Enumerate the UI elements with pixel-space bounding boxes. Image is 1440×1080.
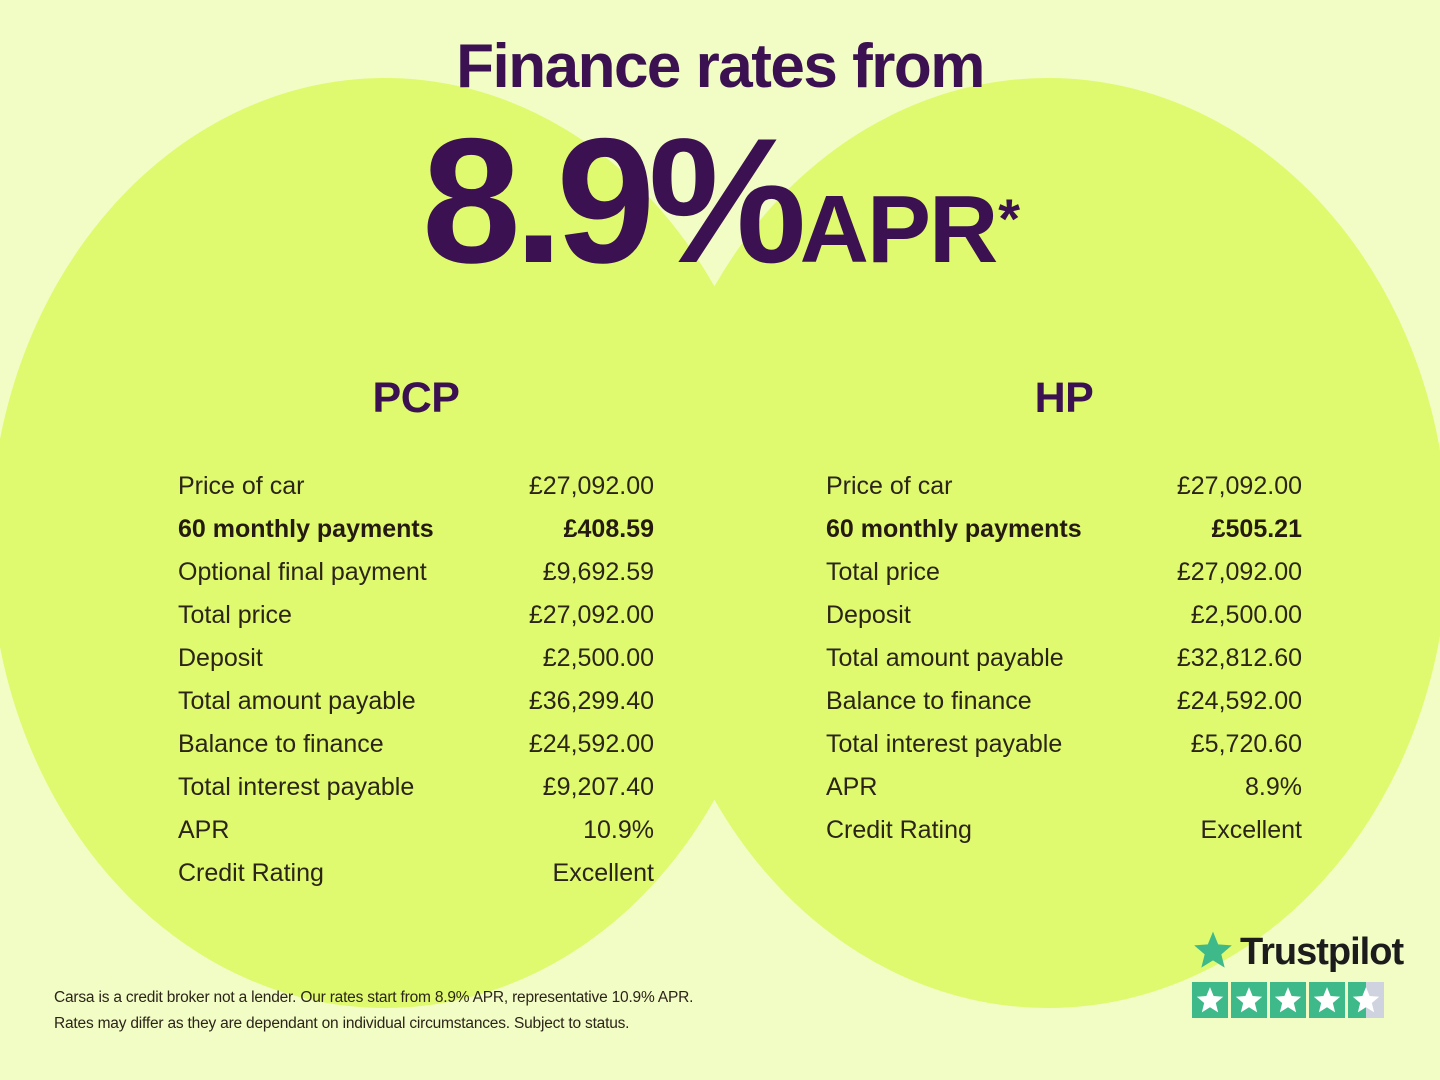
column-title-pcp: PCP — [178, 374, 654, 423]
row-value: £9,692.59 — [543, 551, 654, 594]
table-row: Total amount payable£32,812.60 — [826, 637, 1302, 680]
table-row: Total interest payable£9,207.40 — [178, 766, 654, 809]
row-label: Total amount payable — [826, 637, 1064, 680]
row-label: Price of car — [178, 465, 304, 508]
row-value: £505.21 — [1212, 508, 1302, 551]
trustpilot-star-icon — [1192, 930, 1234, 975]
table-row: APR10.9% — [178, 809, 654, 852]
row-value: £24,592.00 — [529, 723, 654, 766]
table-row: Balance to finance£24,592.00 — [826, 680, 1302, 723]
row-label: Credit Rating — [826, 809, 972, 852]
row-label: Total interest payable — [178, 766, 414, 809]
column-title-hp: HP — [826, 374, 1302, 423]
row-value: £2,500.00 — [543, 637, 654, 680]
row-label: Total amount payable — [178, 680, 416, 723]
page-title: Finance rates from — [0, 36, 1440, 98]
row-value: £36,299.40 — [529, 680, 654, 723]
row-value: £2,500.00 — [1191, 594, 1302, 637]
row-label: 60 monthly payments — [178, 508, 434, 551]
row-value: £32,812.60 — [1177, 637, 1302, 680]
table-row: Price of car£27,092.00 — [178, 465, 654, 508]
table-row: Deposit£2,500.00 — [826, 594, 1302, 637]
row-value: £27,092.00 — [1177, 551, 1302, 594]
row-label: 60 monthly payments — [826, 508, 1082, 551]
row-label: Deposit — [826, 594, 911, 637]
star-filled-icon — [1270, 982, 1306, 1018]
row-label: Optional final payment — [178, 551, 427, 594]
table-row: Optional final payment£9,692.59 — [178, 551, 654, 594]
row-value: £24,592.00 — [1177, 680, 1302, 723]
rate-unit: APR — [800, 176, 997, 283]
row-label: Credit Rating — [178, 852, 324, 895]
row-label: Balance to finance — [826, 680, 1032, 723]
table-row: 60 monthly payments£505.21 — [826, 508, 1302, 551]
row-value: £27,092.00 — [529, 594, 654, 637]
table-row: Balance to finance£24,592.00 — [178, 723, 654, 766]
row-value: £27,092.00 — [1177, 465, 1302, 508]
row-value: £27,092.00 — [529, 465, 654, 508]
table-body-pcp: Price of car£27,092.0060 monthly payment… — [178, 465, 654, 895]
row-label: Deposit — [178, 637, 263, 680]
row-value: £9,207.40 — [543, 766, 654, 809]
trustpilot-brand: Trustpilot — [1192, 928, 1392, 976]
table-row: Total amount payable£36,299.40 — [178, 680, 654, 723]
row-label: Balance to finance — [178, 723, 384, 766]
disclaimer-line-2: Rates may differ as they are dependant o… — [54, 1011, 814, 1037]
row-label: APR — [178, 809, 229, 852]
table-row: Price of car£27,092.00 — [826, 465, 1302, 508]
trustpilot-rating: Trustpilot — [1192, 928, 1392, 1018]
row-value: £408.59 — [564, 508, 654, 551]
row-label: APR — [826, 766, 877, 809]
table-row: Total price£27,092.00 — [178, 594, 654, 637]
row-label: Total price — [178, 594, 292, 637]
table-row: Credit RatingExcellent — [826, 809, 1302, 852]
finance-column-hp: HP Price of car£27,092.0060 monthly paym… — [826, 374, 1302, 852]
trustpilot-star-row — [1192, 982, 1392, 1018]
table-row: 60 monthly payments£408.59 — [178, 508, 654, 551]
legal-disclaimer: Carsa is a credit broker not a lender. O… — [54, 985, 814, 1036]
promo-graphic: Finance rates from 8.9%APR* PCP Price of… — [0, 0, 1440, 1080]
star-half-icon — [1348, 982, 1384, 1018]
row-label: Total price — [826, 551, 940, 594]
star-filled-icon — [1192, 982, 1228, 1018]
row-value: Excellent — [1201, 809, 1302, 852]
star-filled-icon — [1231, 982, 1267, 1018]
asterisk-marker: * — [998, 187, 1020, 250]
star-filled-icon — [1309, 982, 1345, 1018]
table-row: APR8.9% — [826, 766, 1302, 809]
trustpilot-wordmark: Trustpilot — [1240, 933, 1403, 971]
row-value: £5,720.60 — [1191, 723, 1302, 766]
headline-rate: 8.9%APR* — [0, 112, 1440, 290]
table-row: Credit RatingExcellent — [178, 852, 654, 895]
finance-column-pcp: PCP Price of car£27,092.0060 monthly pay… — [178, 374, 654, 895]
table-row: Total price£27,092.00 — [826, 551, 1302, 594]
row-value: 10.9% — [583, 809, 654, 852]
row-value: 8.9% — [1245, 766, 1302, 809]
disclaimer-line-1: Carsa is a credit broker not a lender. O… — [54, 985, 814, 1011]
table-row: Deposit£2,500.00 — [178, 637, 654, 680]
table-body-hp: Price of car£27,092.0060 monthly payment… — [826, 465, 1302, 852]
row-label: Total interest payable — [826, 723, 1062, 766]
table-row: Total interest payable£5,720.60 — [826, 723, 1302, 766]
row-label: Price of car — [826, 465, 952, 508]
rate-value: 8.9% — [422, 101, 800, 300]
row-value: Excellent — [553, 852, 654, 895]
